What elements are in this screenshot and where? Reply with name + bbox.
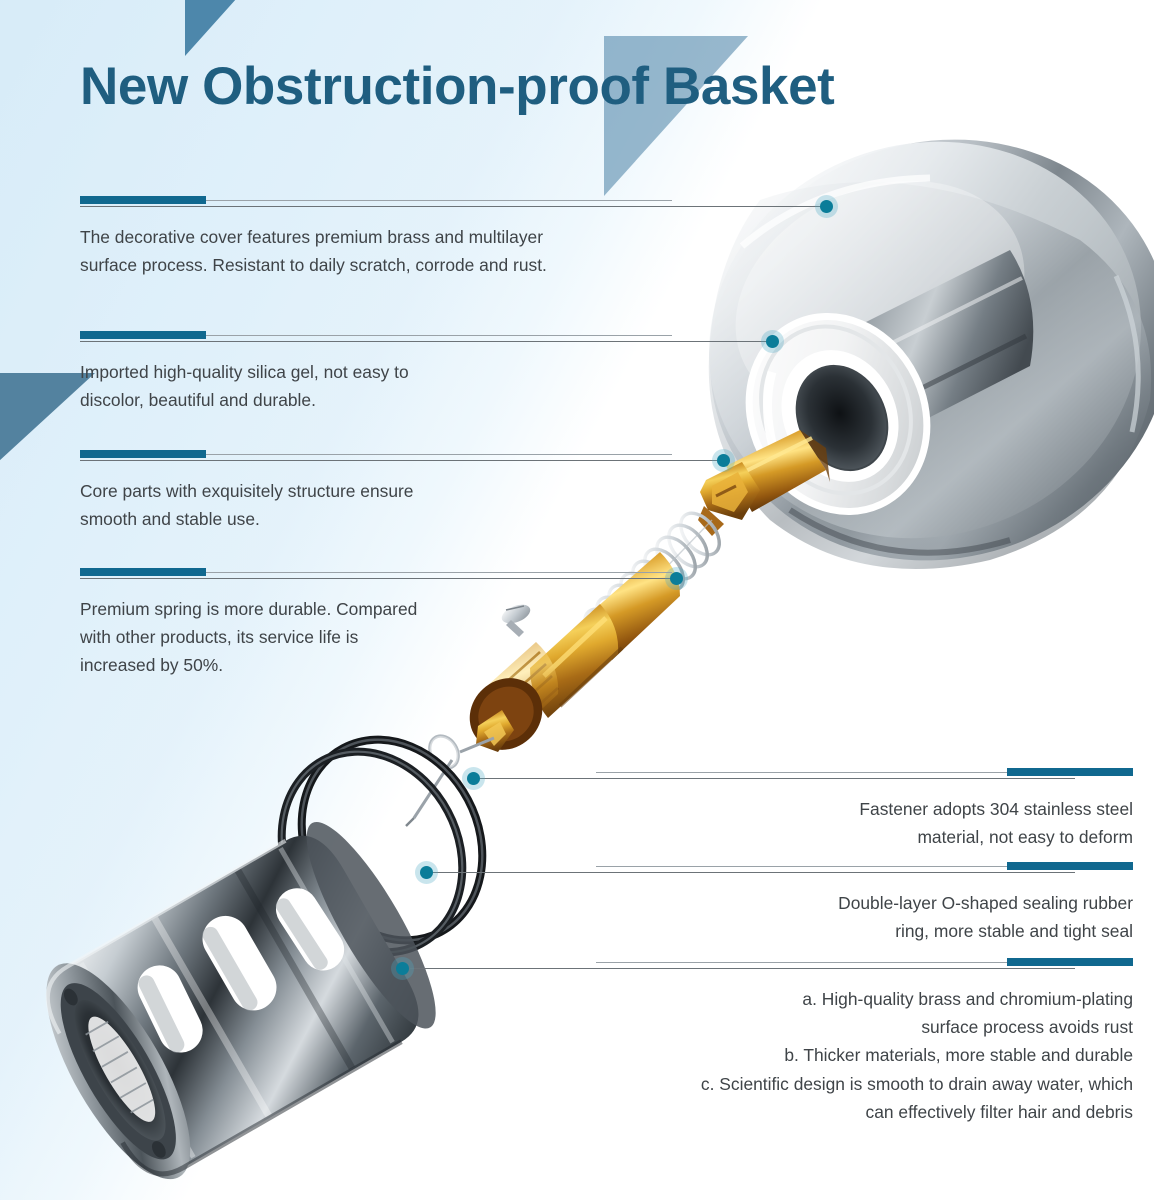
accent-bar (80, 450, 206, 458)
callout-text: Premium spring is more durable. Compared… (80, 595, 672, 680)
hairline (206, 454, 672, 455)
callout-fastener: Fastener adopts 304 stainless steel mate… (596, 768, 1133, 851)
marker-dot-decorative-cover (820, 200, 833, 213)
marker-dot-basket-benefits (396, 962, 409, 975)
callout-premium-spring: Premium spring is more durable. Compared… (80, 568, 672, 680)
accent-bar (80, 196, 206, 204)
hairline (596, 772, 1007, 773)
callout-rule (80, 450, 672, 459)
callout-text: Fastener adopts 304 stainless steel mate… (596, 795, 1133, 851)
callout-rule (80, 568, 672, 577)
hairline (596, 866, 1007, 867)
callout-text: Core parts with exquisitely structure en… (80, 477, 672, 533)
callout-rule (596, 768, 1133, 777)
callout-text: a. High-quality brass and chromium-plati… (596, 985, 1133, 1126)
accent-bar (1007, 768, 1133, 776)
callout-sealing-ring: Double-layer O-shaped sealing rubber rin… (596, 862, 1133, 945)
hairline (206, 335, 672, 336)
callout-decorative-cover: The decorative cover features premium br… (80, 196, 672, 279)
callout-rule (80, 196, 672, 205)
accent-bar (80, 568, 206, 576)
hairline (206, 572, 672, 573)
page-title: New Obstruction-proof Basket (80, 56, 834, 117)
callout-text: Double-layer O-shaped sealing rubber rin… (596, 889, 1133, 945)
callout-silica-gel: Imported high-quality silica gel, not ea… (80, 331, 672, 414)
accent-bar (1007, 862, 1133, 870)
callout-rule (596, 958, 1133, 967)
callout-text: The decorative cover features premium br… (80, 223, 672, 279)
accent-bar (80, 331, 206, 339)
hairline (206, 200, 672, 201)
infographic-page: New Obstruction-proof Basket (0, 0, 1154, 1200)
hairline (596, 962, 1007, 963)
accent-bar (1007, 958, 1133, 966)
marker-dot-fastener (467, 772, 480, 785)
callout-core-parts: Core parts with exquisitely structure en… (80, 450, 672, 533)
marker-dot-core-parts (717, 454, 730, 467)
callout-rule (80, 331, 672, 340)
callout-rule (596, 862, 1133, 871)
marker-dot-sealing-ring (420, 866, 433, 879)
callout-basket-benefits: a. High-quality brass and chromium-plati… (596, 958, 1133, 1126)
marker-dot-silica-gel (766, 335, 779, 348)
decorative-triangle-top (185, 0, 237, 56)
callout-text: Imported high-quality silica gel, not ea… (80, 358, 672, 414)
